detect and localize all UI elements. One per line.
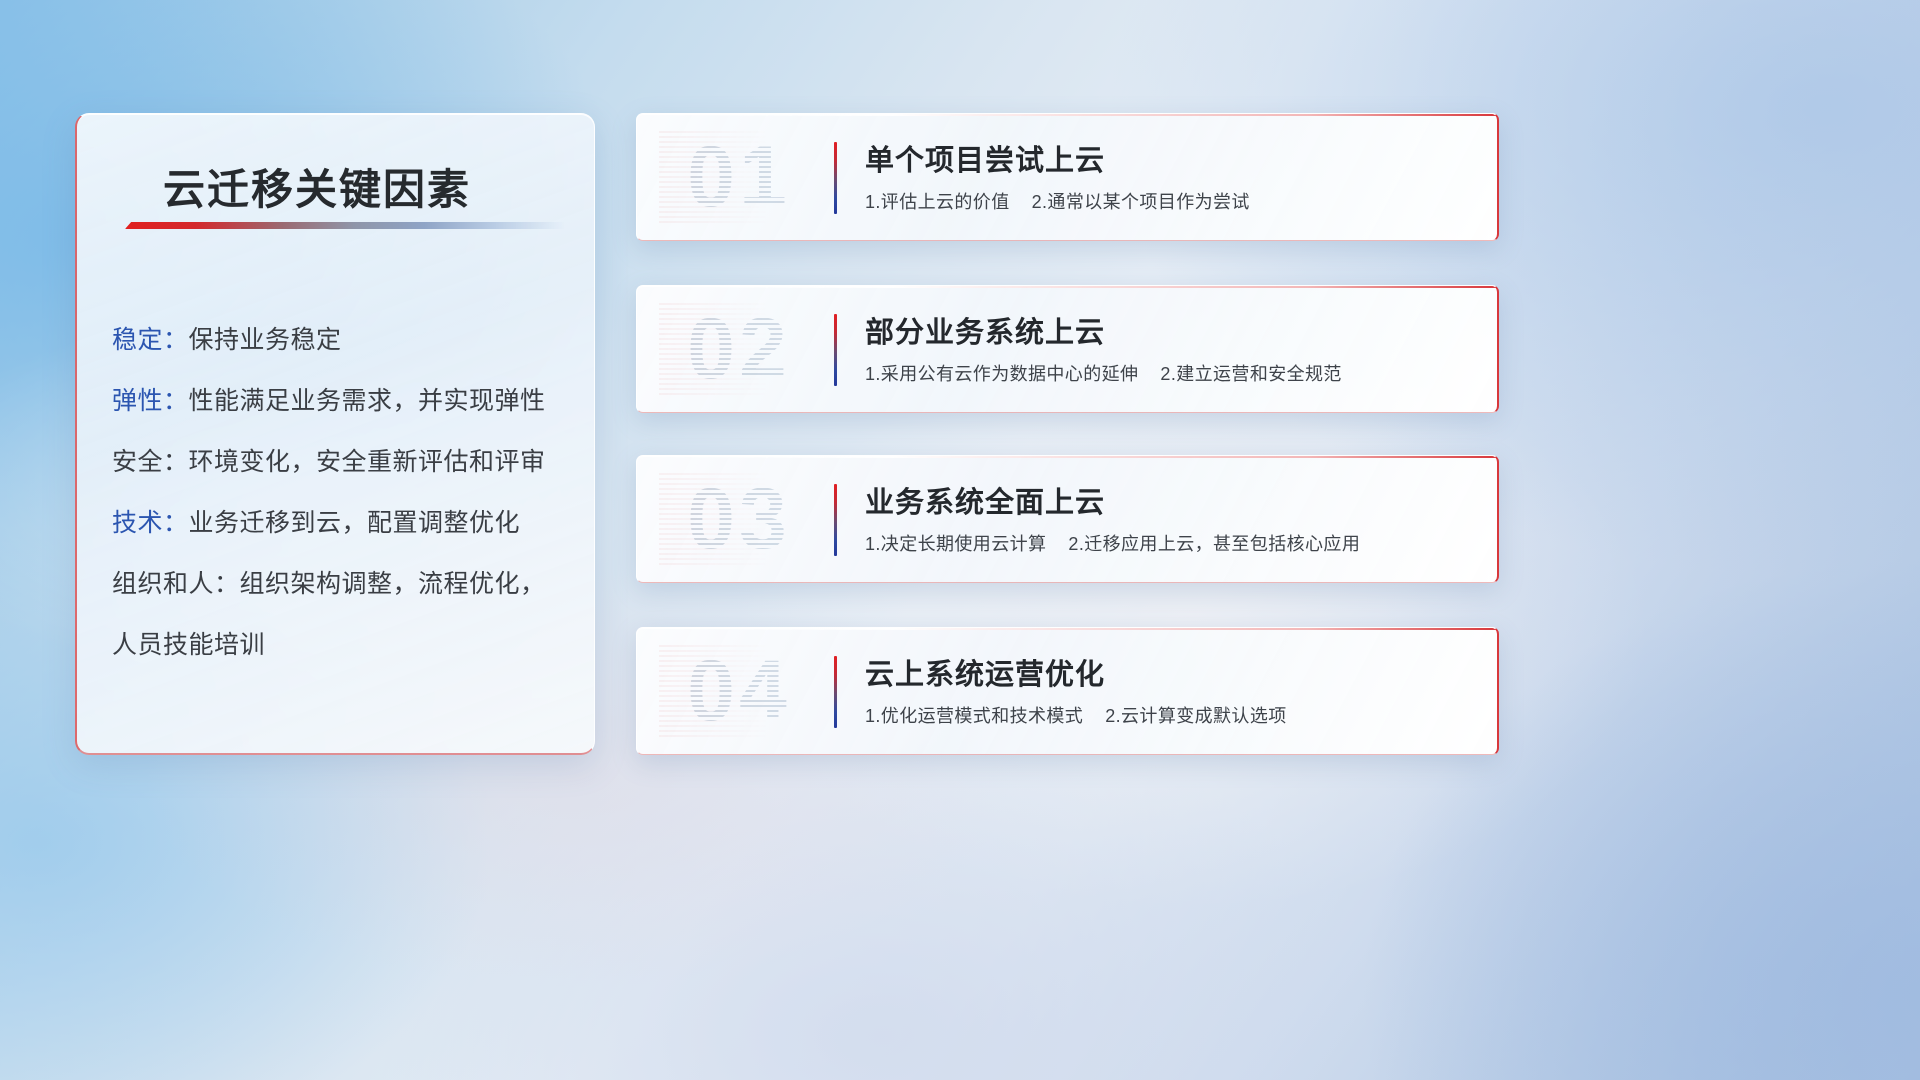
key-factor-label: 安全： (112, 448, 189, 476)
stage-number-ghost: 04 (659, 645, 819, 737)
stage-desc-item: 2.建立运营和安全规范 (1160, 364, 1341, 384)
stage-desc-item: 1.评估上云的价值 (865, 192, 1010, 212)
stage-desc-item: 1.优化运营模式和技术模式 (865, 706, 1083, 726)
stage-title: 部分业务系统上云 (865, 309, 1105, 351)
stage-card[interactable]: 04 云上系统运营优化 1.优化运营模式和技术模式2.云计算变成默认选项 (636, 627, 1499, 755)
key-factor-label: 技术： (112, 509, 189, 537)
stage-number-ghost: 02 (659, 303, 819, 395)
stage-desc-item: 2.云计算变成默认选项 (1105, 706, 1286, 726)
key-factor-row: 安全：环境变化，安全重新评估和评审 (112, 432, 572, 493)
stage-title: 云上系统运营优化 (865, 651, 1105, 693)
stage-description: 1.评估上云的价值2.通常以某个项目作为尝试 (865, 188, 1250, 214)
key-factor-row: 技术：业务迁移到云，配置调整优化 (112, 493, 572, 554)
stage-title: 业务系统全面上云 (865, 479, 1105, 521)
key-factor-label: 弹性： (112, 387, 189, 415)
stage-desc-item: 1.采用公有云作为数据中心的延伸 (865, 364, 1138, 384)
stage-number-ghost: 01 (659, 131, 819, 223)
stage-description: 1.优化运营模式和技术模式2.云计算变成默认选项 (865, 702, 1287, 728)
panel-title: 云迁移关键因素 (163, 156, 471, 217)
key-factors-panel: 云迁移关键因素 稳定：保持业务稳定 弹性：性能满足业务需求，并实现弹性 安全：环… (75, 113, 595, 755)
key-factor-text: 性能满足业务需求，并实现弹性 (189, 387, 546, 415)
stage-desc-item: 1.决定长期使用云计算 (865, 534, 1046, 554)
stage-title: 单个项目尝试上云 (865, 137, 1105, 179)
key-factor-row: 弹性：性能满足业务需求，并实现弹性 (112, 371, 572, 432)
key-factor-text: 保持业务稳定 (189, 326, 342, 354)
stage-desc-item: 2.通常以某个项目作为尝试 (1032, 192, 1250, 212)
key-factor-label: 稳定： (112, 326, 189, 354)
stage-divider (834, 656, 837, 728)
stage-divider (834, 142, 837, 214)
key-factor-text: 组织架构调整，流程优化， (240, 570, 546, 598)
key-factor-text: 环境变化，安全重新评估和评审 (189, 448, 546, 476)
key-factors-list: 稳定：保持业务稳定 弹性：性能满足业务需求，并实现弹性 安全：环境变化，安全重新… (112, 310, 572, 676)
key-factor-row-continued: 人员技能培训 (112, 615, 572, 676)
stage-card[interactable]: 03 业务系统全面上云 1.决定长期使用云计算2.迁移应用上云，甚至包括核心应用 (636, 455, 1499, 583)
stage-description: 1.采用公有云作为数据中心的延伸2.建立运营和安全规范 (865, 360, 1342, 386)
key-factor-label: 组织和人： (112, 570, 240, 598)
key-factor-row: 组织和人：组织架构调整，流程优化， (112, 554, 572, 615)
key-factor-row: 稳定：保持业务稳定 (112, 310, 572, 371)
stage-desc-item: 2.迁移应用上云，甚至包括核心应用 (1068, 534, 1360, 554)
key-factor-text: 业务迁移到云，配置调整优化 (189, 509, 521, 537)
key-factor-text: 人员技能培训 (112, 631, 265, 659)
stage-card[interactable]: 02 部分业务系统上云 1.采用公有云作为数据中心的延伸2.建立运营和安全规范 (636, 285, 1499, 413)
stage-number-ghost: 03 (659, 473, 819, 565)
title-underline-gradient (125, 222, 565, 229)
stage-card[interactable]: 01 单个项目尝试上云 1.评估上云的价值2.通常以某个项目作为尝试 (636, 113, 1499, 241)
slide-stage: 云迁移关键因素 稳定：保持业务稳定 弹性：性能满足业务需求，并实现弹性 安全：环… (0, 0, 1920, 1080)
stage-divider (834, 484, 837, 556)
stage-divider (834, 314, 837, 386)
stage-description: 1.决定长期使用云计算2.迁移应用上云，甚至包括核心应用 (865, 530, 1360, 556)
